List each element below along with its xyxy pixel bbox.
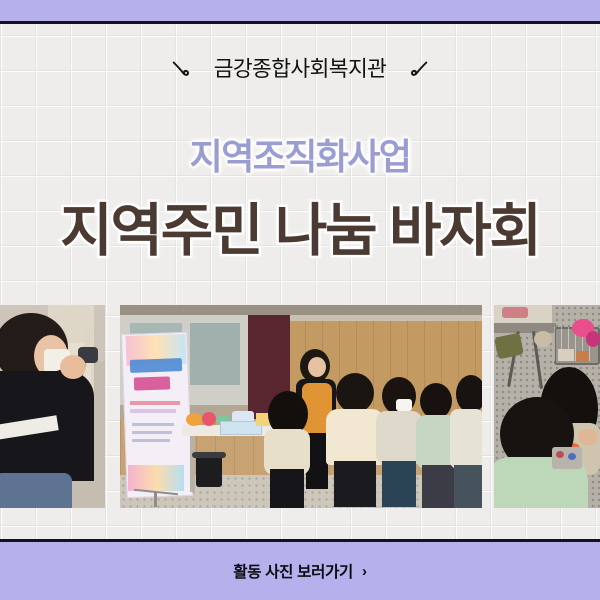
photo-right-scene [494,305,600,508]
organization-name: 금강종합사회복지관 [214,52,387,83]
page-title: 지역주민 나눔 바자회 [0,185,600,267]
swirl-flourish-left-icon [170,57,192,79]
top-accent-band [0,0,600,21]
photo-kids-shopping[interactable] [494,305,600,508]
cta-label: 활동 사진 보러가기 [233,560,353,582]
photo-left-scene [0,305,105,508]
top-divider-rule [0,21,600,24]
photo-child-with-toy[interactable] [0,305,105,508]
chevron-right-icon: › [362,564,367,579]
photo-strip [0,305,600,508]
photo-mid-scene [120,305,482,508]
cta-link[interactable]: 활동 사진 보러가기 › [233,560,366,582]
photo-bazaar-hall[interactable] [120,305,482,508]
cta-bar[interactable]: 활동 사진 보러가기 › [0,542,600,600]
bottom-divider-rule [0,539,600,542]
program-subtitle: 지역조직화사업 [0,128,600,180]
swirl-flourish-right-icon [408,57,430,79]
header: 금강종합사회복지관 [0,52,600,83]
promo-card: 금강종합사회복지관 지역조직화사업 지역주민 나눔 바자회 [0,0,600,600]
